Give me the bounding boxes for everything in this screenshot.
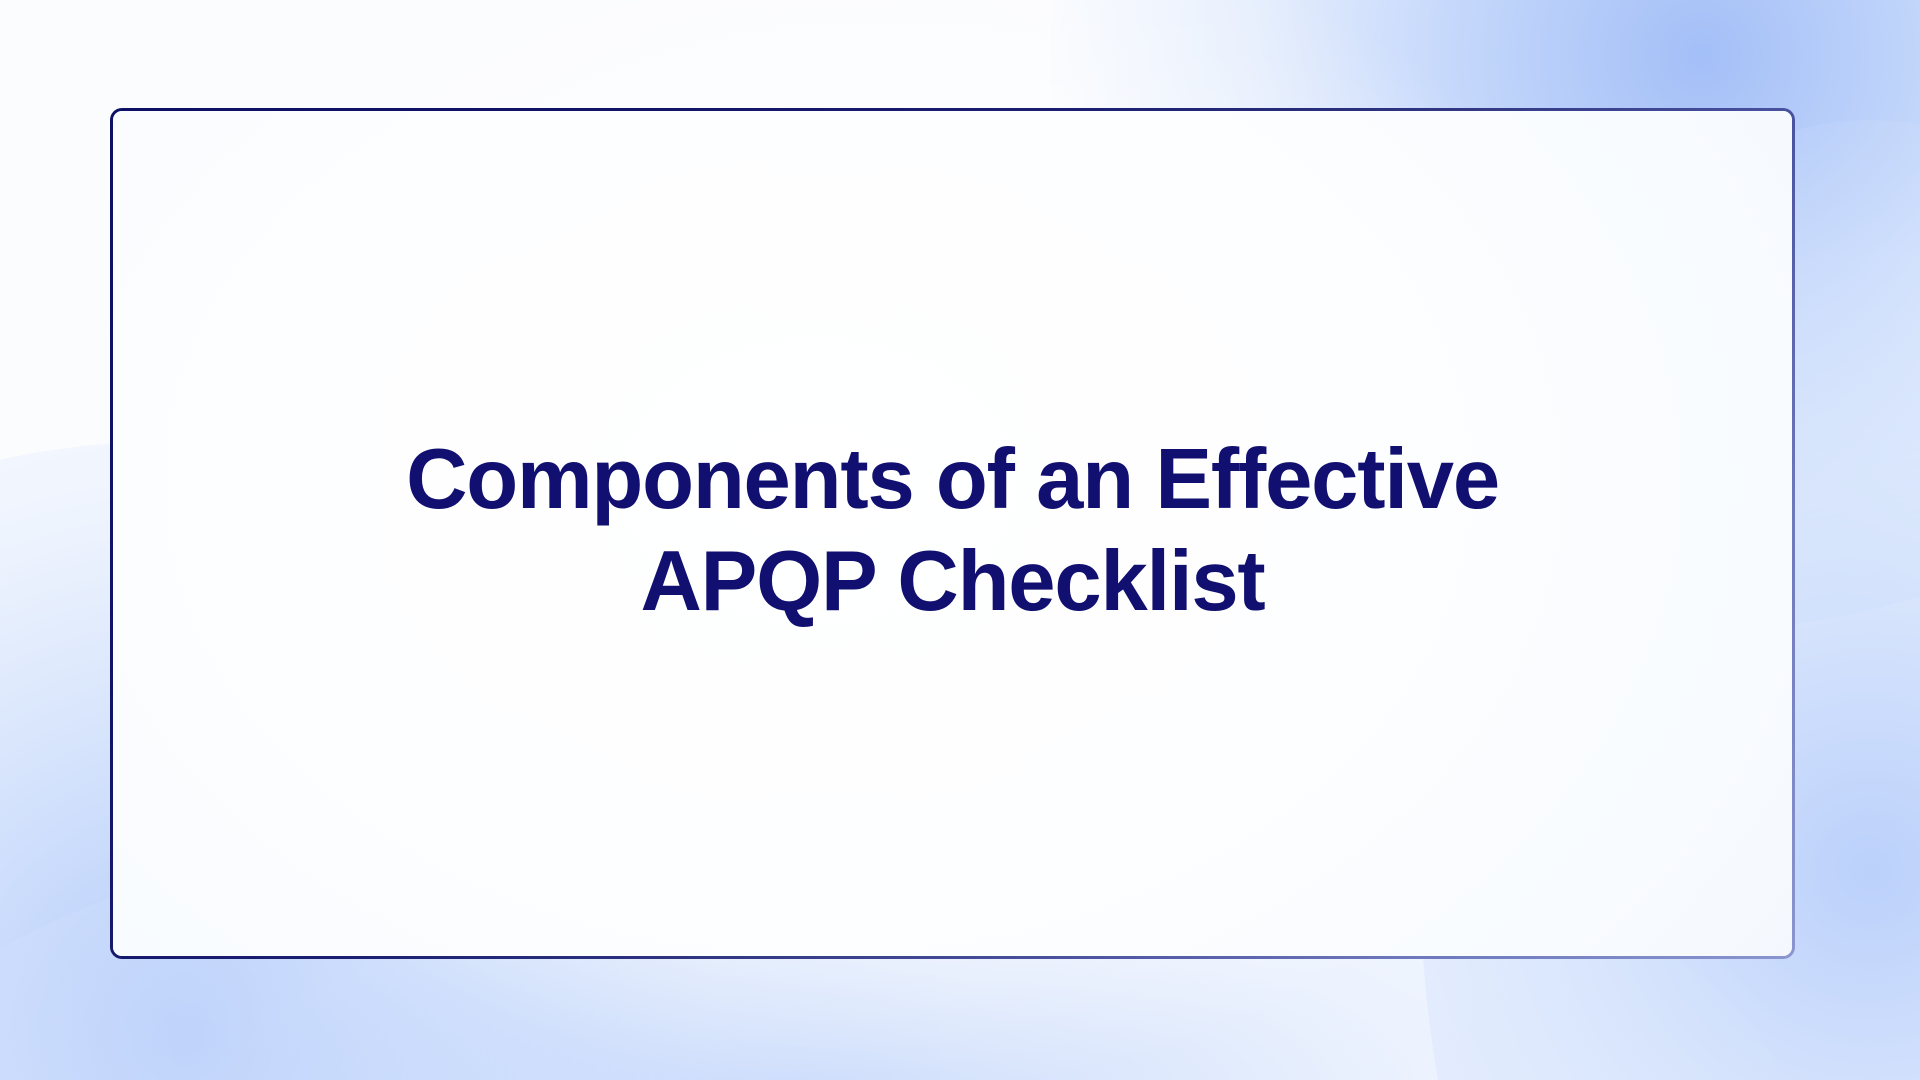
- title-card-frame: Components of an Effective APQP Checklis…: [110, 108, 1795, 959]
- title-card-body: Components of an Effective APQP Checklis…: [113, 111, 1792, 956]
- title-block: Components of an Effective APQP Checklis…: [113, 429, 1792, 633]
- page-title: Components of an Effective APQP Checklis…: [203, 429, 1702, 633]
- slide-canvas: Components of an Effective APQP Checklis…: [0, 0, 1920, 1080]
